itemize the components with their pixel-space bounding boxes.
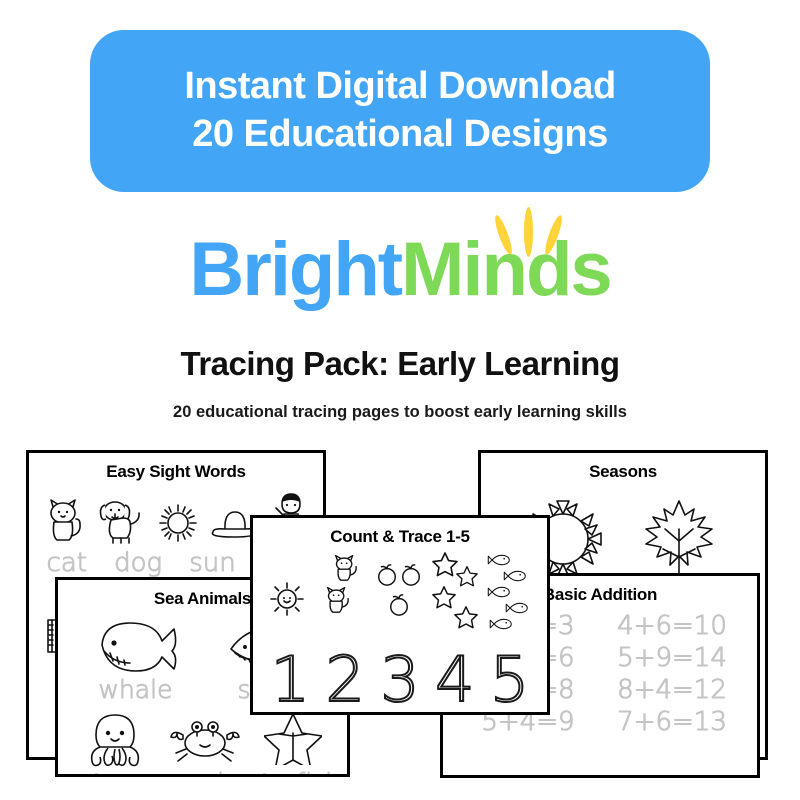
equation: 5+9=14 — [603, 643, 741, 673]
trace-number: 3 — [380, 649, 419, 711]
crab-icon — [169, 711, 241, 765]
cat-icon — [328, 553, 362, 587]
logo-word-bright: Bright — [189, 227, 401, 312]
sea-icon-row-2 — [58, 708, 347, 768]
octopus-icon — [84, 709, 146, 767]
sun-icon — [156, 500, 200, 546]
equation: 4+6=10 — [603, 611, 741, 641]
banner-line-2: 20 Educational Designs — [192, 113, 608, 157]
star-icon — [432, 585, 456, 609]
trace-word: starfish — [248, 768, 341, 777]
worksheet-preview-stack: Easy Sight Words — [0, 430, 800, 800]
worksheet-title: Seasons — [481, 462, 765, 482]
whale-icon — [94, 615, 182, 673]
promo-banner: Instant Digital Download 20 Educational … — [90, 30, 710, 192]
trace-word: crab — [178, 768, 233, 777]
logo-word-minds: Minds — [401, 227, 611, 312]
equation: 7+6=13 — [603, 707, 741, 737]
starfish-icon — [264, 711, 322, 765]
star-icon — [454, 605, 478, 629]
fish-icon — [489, 615, 517, 633]
brand-logo: BrightMinds — [0, 200, 800, 320]
dog-icon — [95, 494, 147, 546]
count-group-4 — [432, 551, 480, 635]
sun-icon — [267, 579, 307, 619]
apple-icon — [388, 593, 410, 617]
logo-text: BrightMinds — [0, 232, 800, 308]
trace-word: cat — [47, 548, 87, 578]
trace-number: 4 — [435, 649, 474, 711]
trace-word: dog — [114, 548, 162, 578]
equation: 8+4=12 — [603, 675, 741, 705]
star-icon — [456, 565, 478, 587]
cat-icon — [40, 494, 86, 546]
trace-number: 1 — [271, 649, 310, 711]
worksheet-card-count-trace[interactable]: Count & Trace 1-5 — [250, 515, 550, 715]
count-group-1 — [265, 551, 313, 635]
sea-trace-row-2: octopus crab starfish — [58, 768, 347, 777]
worksheet-title: Easy Sight Words — [29, 462, 323, 482]
page-title: Tracing Pack: Early Learning — [0, 345, 800, 383]
trace-word: sun — [189, 548, 236, 578]
trace-number: 5 — [490, 649, 529, 711]
apple-icon — [400, 563, 422, 587]
apple-icon — [376, 563, 398, 587]
trace-word: octopus — [64, 768, 163, 777]
cat-icon — [320, 585, 354, 619]
banner-line-1: Instant Digital Download — [184, 65, 615, 109]
count-groups-row — [253, 547, 547, 639]
trace-number: 2 — [325, 649, 364, 711]
count-group-3 — [376, 551, 424, 635]
worksheet-title: Count & Trace 1-5 — [253, 527, 547, 547]
count-group-5 — [487, 551, 535, 635]
star-icon — [432, 551, 458, 577]
count-numbers-trace-row: 1 2 3 4 5 — [253, 639, 547, 715]
count-group-2 — [320, 551, 368, 635]
trace-word: whale — [99, 675, 173, 704]
page-subtitle: 20 educational tracing pages to boost ea… — [0, 403, 800, 422]
